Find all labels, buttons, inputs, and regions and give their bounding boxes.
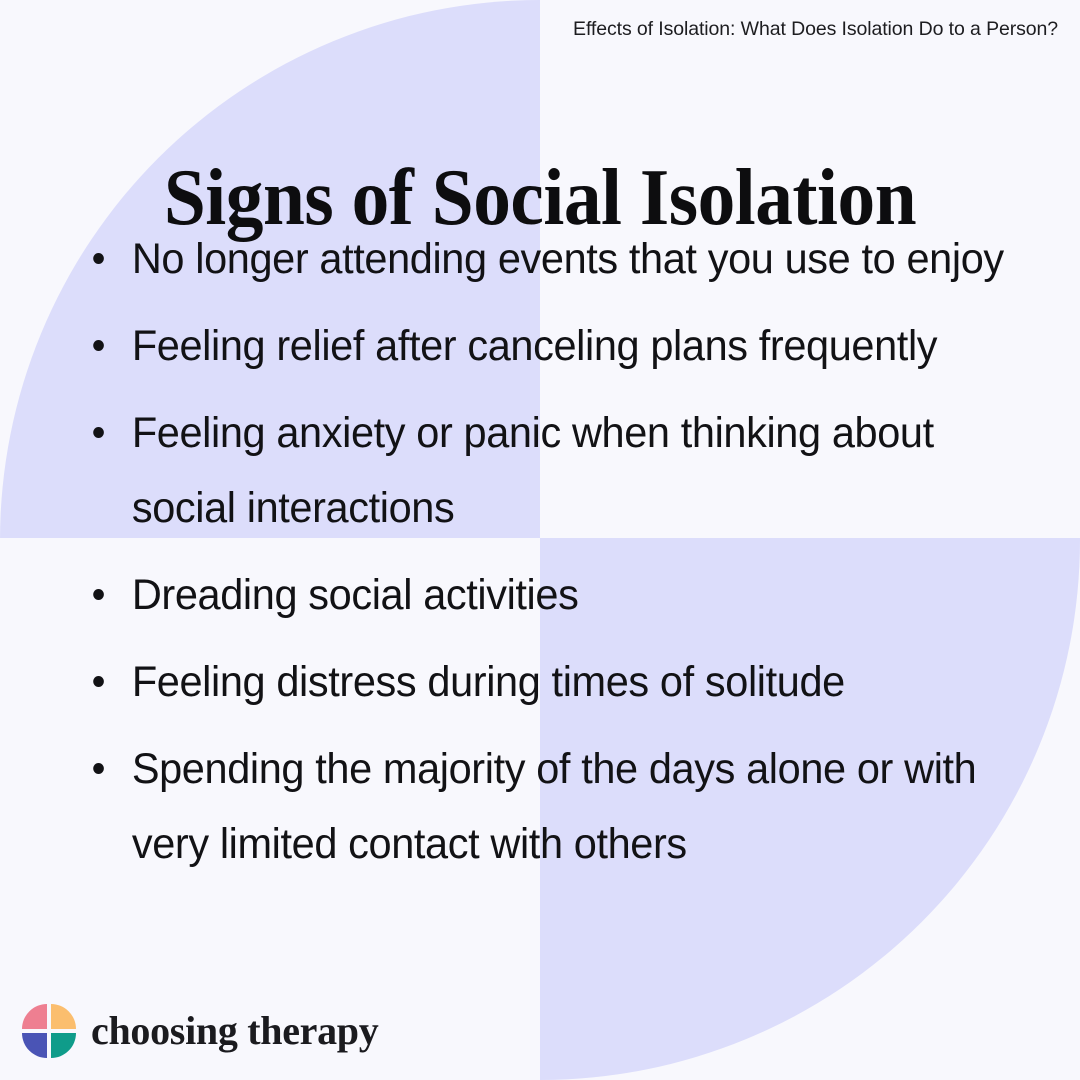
brand-wordmark: choosing therapy	[91, 1011, 378, 1051]
logo-quadrant-top-left	[22, 1004, 47, 1029]
bullet-dot-icon	[93, 676, 104, 687]
bullet-dot-icon	[93, 253, 104, 264]
bullet-dot-icon	[93, 427, 104, 438]
list-item: Feeling anxiety or panic when thinking a…	[72, 396, 1023, 546]
signs-list: No longer attending events that you use …	[72, 222, 1057, 894]
infographic-canvas: Effects of Isolation: What Does Isolatio…	[0, 0, 1080, 1080]
logo-quadrant-top-right	[51, 1004, 76, 1029]
list-item-label: Dreading social activities	[132, 558, 1005, 633]
choosing-therapy-pinwheel-mark-icon	[22, 1004, 76, 1058]
list-item-label: No longer attending events that you use …	[132, 222, 1005, 297]
logo-quadrant-bottom-right	[51, 1033, 76, 1058]
list-item-label: Feeling relief after canceling plans fre…	[132, 309, 1005, 384]
logo-quadrant-bottom-left	[22, 1033, 47, 1058]
list-item-label: Feeling anxiety or panic when thinking a…	[132, 396, 1005, 546]
bullet-dot-icon	[93, 763, 104, 774]
article-source-note: Effects of Isolation: What Does Isolatio…	[573, 18, 1058, 41]
list-item: Feeling relief after canceling plans fre…	[72, 309, 1023, 384]
brand-logo: choosing therapy	[22, 1004, 378, 1058]
bullet-dot-icon	[93, 589, 104, 600]
list-item-label: Feeling distress during times of solitud…	[132, 645, 1005, 720]
list-item: Spending the majority of the days alone …	[72, 732, 1023, 882]
list-item: No longer attending events that you use …	[72, 222, 1023, 297]
list-item: Feeling distress during times of solitud…	[72, 645, 1023, 720]
bullet-dot-icon	[93, 340, 104, 351]
list-item: Dreading social activities	[72, 558, 1023, 633]
list-item-label: Spending the majority of the days alone …	[132, 732, 1005, 882]
